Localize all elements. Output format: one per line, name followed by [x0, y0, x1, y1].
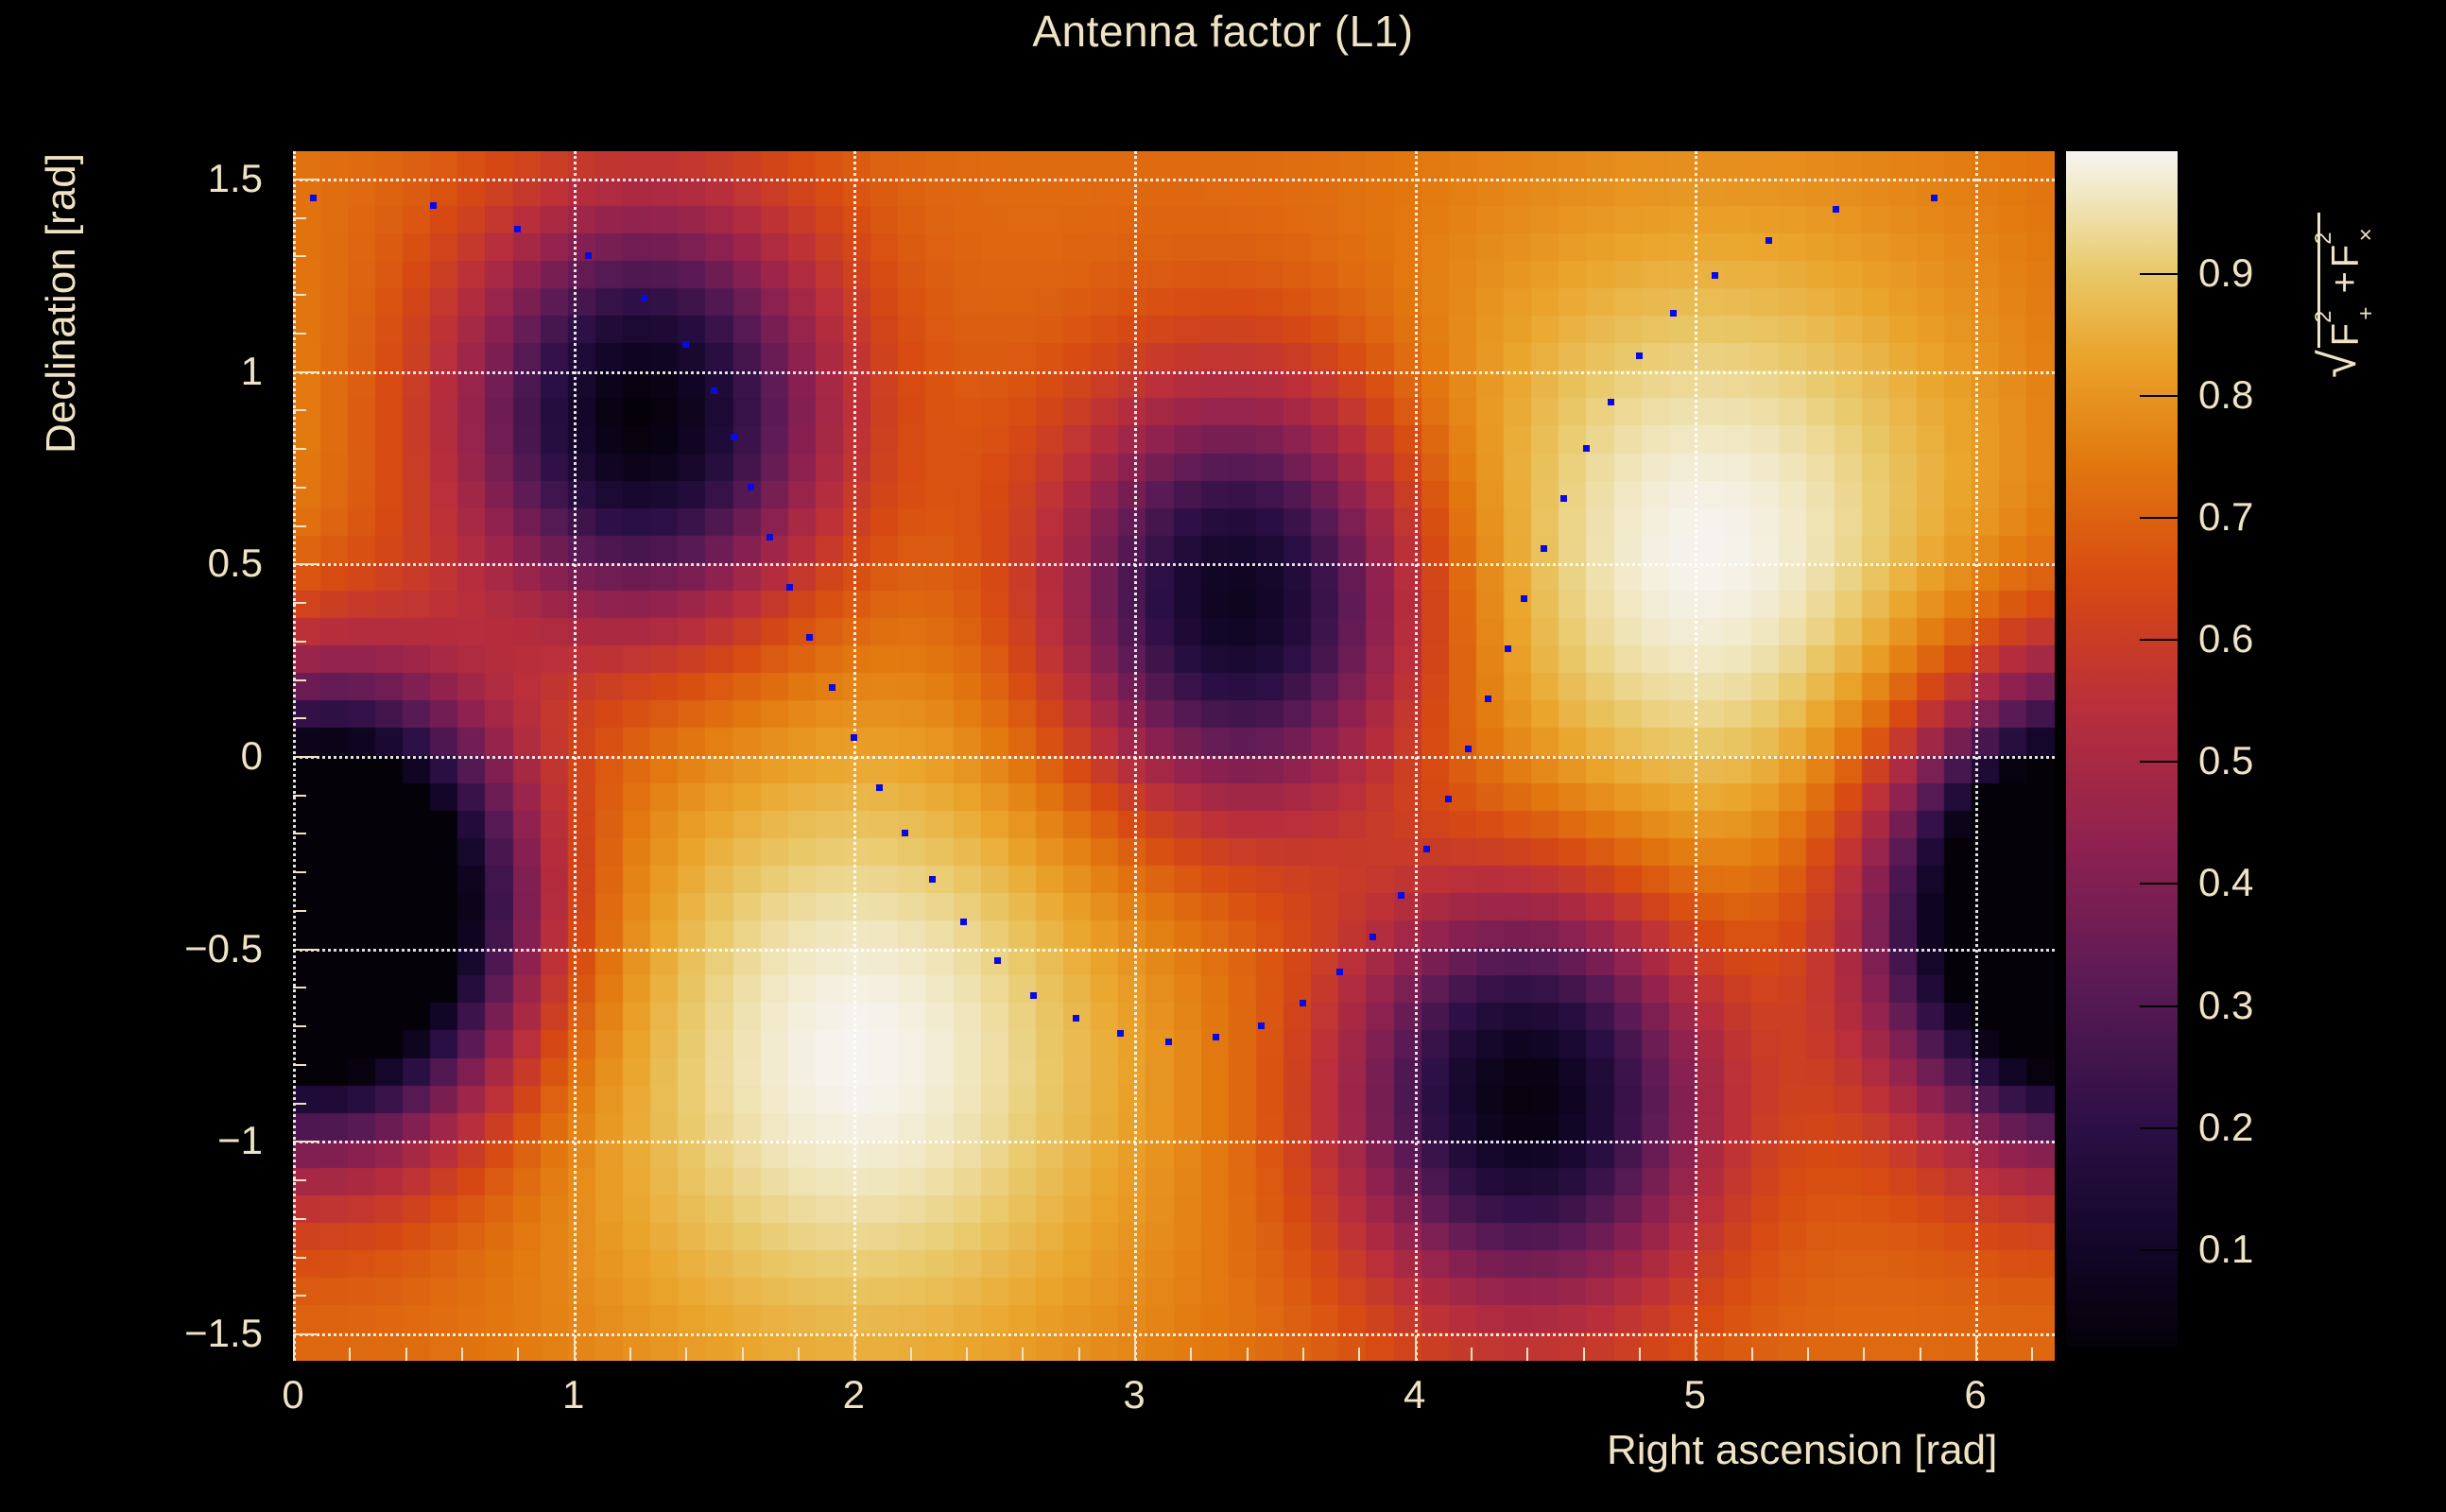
x-minor-tick — [1863, 1348, 1865, 1361]
colorbar-tick-4 — [2140, 761, 2178, 763]
x-major-tick-1 — [574, 1336, 576, 1361]
x-major-tick-5 — [1695, 1336, 1697, 1361]
x-axis-title: Right ascension [rad] — [1607, 1427, 1997, 1474]
radical-symbol: √ F2+ + F2× — [2317, 213, 2372, 378]
y-major-tick-2 — [293, 563, 318, 565]
y-minor-tick — [293, 679, 306, 681]
x-minor-tick — [405, 1348, 407, 1361]
galactic-plane-marker — [1030, 992, 1037, 999]
x-minor-tick — [2031, 1348, 2033, 1361]
galactic-plane-marker — [731, 434, 737, 440]
galactic-plane-marker — [876, 784, 883, 791]
y-minor-tick — [293, 717, 306, 719]
x-tick-label-4: 4 — [1404, 1372, 1425, 1417]
galactic-plane-marker — [786, 584, 793, 591]
x-minor-tick — [349, 1348, 351, 1361]
galactic-plane-marker — [1117, 1030, 1124, 1037]
colorbar-label-1: 0.2 — [2198, 1105, 2253, 1150]
y-major-tick-5 — [293, 1141, 318, 1143]
y-minor-tick — [293, 602, 306, 604]
x-tick-label-5: 5 — [1684, 1372, 1706, 1417]
galactic-plane-marker — [1165, 1039, 1172, 1045]
x-minor-tick — [629, 1348, 631, 1361]
y-major-tick-3 — [293, 756, 318, 758]
galactic-plane-marker — [1213, 1034, 1219, 1040]
galactic-plane-marker — [1583, 445, 1590, 452]
x-minor-tick — [1190, 1348, 1192, 1361]
y-minor-tick — [293, 1295, 306, 1297]
x-minor-tick — [1078, 1348, 1080, 1361]
y-major-tick-4 — [293, 949, 318, 951]
colorbar-tick-1 — [2140, 1127, 2178, 1129]
galactic-plane-marker — [310, 195, 317, 201]
galactic-plane-marker — [1258, 1022, 1265, 1029]
colorbar-label-6: 0.7 — [2198, 494, 2253, 540]
y-minor-tick — [293, 217, 306, 219]
galactic-plane-marker — [851, 734, 857, 741]
galactic-plane-marker — [1541, 545, 1547, 552]
x-major-tick-4 — [1415, 1336, 1417, 1361]
colorbar-label-0: 0.1 — [2198, 1227, 2253, 1272]
galactic-plane-marker — [1369, 934, 1376, 940]
y-minor-tick — [293, 1025, 306, 1027]
x-minor-tick — [1583, 1348, 1585, 1361]
x-minor-tick — [1526, 1348, 1528, 1361]
gridline-horizontal-1 — [293, 371, 2055, 374]
x-minor-tick — [1807, 1348, 1809, 1361]
y-tick-label-2: 0.5 — [208, 541, 263, 586]
plus-operator: + — [2324, 271, 2367, 293]
galactic-plane-marker — [641, 295, 647, 301]
colorbar-tick-6 — [2140, 517, 2178, 519]
y-minor-tick — [293, 525, 306, 527]
galactic-plane-marker — [1636, 352, 1643, 359]
f-cross-squared: F2× — [2324, 218, 2372, 267]
galactic-plane-marker — [585, 252, 592, 259]
gridline-horizontal-0 — [293, 179, 2055, 181]
page-title: Antenna factor (L1) — [0, 6, 2446, 57]
galactic-plane-marker — [1766, 237, 1772, 244]
colorbar-label-7: 0.8 — [2198, 372, 2253, 418]
y-minor-tick — [293, 833, 306, 834]
x-tick-label-2: 2 — [843, 1372, 865, 1417]
x-minor-tick — [1471, 1348, 1473, 1361]
y-minor-tick — [293, 1103, 306, 1105]
y-minor-tick — [293, 294, 306, 296]
colorbar-tick-2 — [2140, 1005, 2178, 1007]
galactic-plane-marker — [514, 226, 521, 232]
gridline-horizontal-6 — [293, 1333, 2055, 1336]
x-minor-tick — [1639, 1348, 1641, 1361]
galactic-plane-marker — [929, 876, 936, 883]
galactic-plane-marker — [960, 919, 967, 925]
y-minor-tick — [293, 409, 306, 411]
y-minor-tick — [293, 871, 306, 873]
galactic-plane-marker — [1073, 1015, 1079, 1022]
f-plus-squared: F2+ — [2324, 298, 2372, 347]
y-minor-tick — [293, 448, 306, 450]
y-minor-tick — [293, 333, 306, 335]
colorbar[interactable] — [2066, 151, 2178, 1347]
y-minor-tick — [293, 487, 306, 489]
radical-contents: F2+ + F2× — [2317, 213, 2372, 348]
colorbar-ticks — [2066, 151, 2178, 1347]
galactic-plane-marker — [994, 957, 1001, 964]
galactic-plane-marker — [806, 634, 813, 641]
colorbar-label-5: 0.6 — [2198, 616, 2253, 661]
x-minor-tick — [798, 1348, 800, 1361]
x-minor-tick — [1247, 1348, 1249, 1361]
colorbar-label-4: 0.5 — [2198, 738, 2253, 783]
galactic-plane-marker — [902, 830, 908, 836]
x-minor-tick — [966, 1348, 968, 1361]
galactic-plane-marker — [1423, 846, 1430, 852]
y-axis-title: Declination [rad] — [38, 153, 85, 454]
x-major-tick-6 — [1975, 1336, 1977, 1361]
x-tick-label-0: 0 — [282, 1372, 303, 1417]
galactic-plane-marker — [1608, 399, 1614, 405]
y-minor-tick — [293, 987, 306, 988]
galactic-plane-marker — [1485, 696, 1491, 702]
x-minor-tick — [1358, 1348, 1360, 1361]
colorbar-label-8: 0.9 — [2198, 250, 2253, 296]
galactic-plane-marker — [1465, 746, 1472, 752]
x-minor-tick — [1920, 1348, 1921, 1361]
galactic-plane-marker — [1712, 272, 1718, 279]
y-major-tick-1 — [293, 371, 318, 373]
colorbar-tick-8 — [2140, 273, 2178, 275]
x-minor-tick — [461, 1348, 463, 1361]
galactic-plane-marker — [748, 484, 754, 490]
galactic-plane-marker — [430, 202, 437, 209]
galactic-plane-marker — [1931, 195, 1938, 201]
x-tick-label-6: 6 — [1964, 1372, 1986, 1417]
x-minor-tick — [685, 1348, 687, 1361]
x-minor-tick — [1751, 1348, 1753, 1361]
galactic-plane-marker — [682, 341, 689, 348]
galactic-plane-marker — [1670, 310, 1677, 317]
colorbar-label-2: 0.3 — [2198, 983, 2253, 1028]
x-major-tick-3 — [1134, 1336, 1136, 1361]
galactic-plane-marker — [1521, 595, 1527, 602]
gridline-horizontal-5 — [293, 1141, 2055, 1143]
y-minor-tick — [293, 1064, 306, 1066]
y-tick-label-1: 1 — [241, 349, 263, 394]
y-major-tick-6 — [293, 1333, 318, 1335]
x-tick-label-1: 1 — [562, 1372, 584, 1417]
y-minor-tick — [293, 795, 306, 797]
colorbar-tick-0 — [2140, 1249, 2178, 1251]
x-minor-tick — [1022, 1348, 1024, 1361]
root-canvas: Antenna factor (L1) 0123456 1.510.50−0.5… — [0, 0, 2446, 1512]
x-tick-label-3: 3 — [1123, 1372, 1145, 1417]
gridline-horizontal-3 — [293, 756, 2055, 759]
y-tick-label-4: −0.5 — [184, 926, 263, 971]
y-tick-label-5: −1 — [217, 1118, 263, 1163]
gridline-horizontal-2 — [293, 563, 2055, 566]
y-minor-tick — [293, 255, 306, 257]
y-major-tick-0 — [293, 179, 318, 180]
galactic-plane-marker — [1833, 206, 1839, 213]
x-major-tick-0 — [293, 1336, 295, 1361]
y-tick-label-0: 1.5 — [208, 156, 263, 201]
x-major-tick-2 — [853, 1336, 855, 1361]
galactic-plane-marker — [1505, 645, 1511, 652]
colorbar-tick-5 — [2140, 639, 2178, 641]
galactic-plane-marker — [711, 387, 717, 394]
galactic-plane-marker — [1300, 1000, 1306, 1006]
radical-sign-glyph: √ — [2317, 348, 2372, 378]
galactic-plane-marker — [1445, 796, 1452, 802]
gridline-horizontal-4 — [293, 949, 2055, 952]
heatmap-plot-area[interactable] — [293, 151, 2055, 1361]
colorbar-tick-3 — [2140, 883, 2178, 885]
y-tick-label-6: −1.5 — [184, 1311, 263, 1356]
z-axis-title: √ F2+ + F2× — [2317, 213, 2372, 378]
y-minor-tick — [293, 1218, 306, 1220]
y-minor-tick — [293, 910, 306, 912]
heatmap-overlay — [293, 151, 2055, 1361]
y-minor-tick — [293, 1179, 306, 1181]
galactic-plane-marker — [1336, 969, 1343, 975]
x-minor-tick — [910, 1348, 912, 1361]
y-tick-label-3: 0 — [241, 733, 263, 779]
colorbar-tick-7 — [2140, 395, 2178, 397]
x-minor-tick — [1302, 1348, 1304, 1361]
y-minor-tick — [293, 641, 306, 643]
galactic-plane-marker — [1560, 495, 1567, 502]
y-minor-tick — [293, 1257, 306, 1259]
colorbar-label-3: 0.4 — [2198, 860, 2253, 905]
galactic-plane-marker — [1398, 892, 1404, 899]
galactic-plane-marker — [767, 534, 773, 541]
x-minor-tick — [742, 1348, 744, 1361]
galactic-plane-marker — [829, 684, 835, 691]
x-minor-tick — [517, 1348, 519, 1361]
